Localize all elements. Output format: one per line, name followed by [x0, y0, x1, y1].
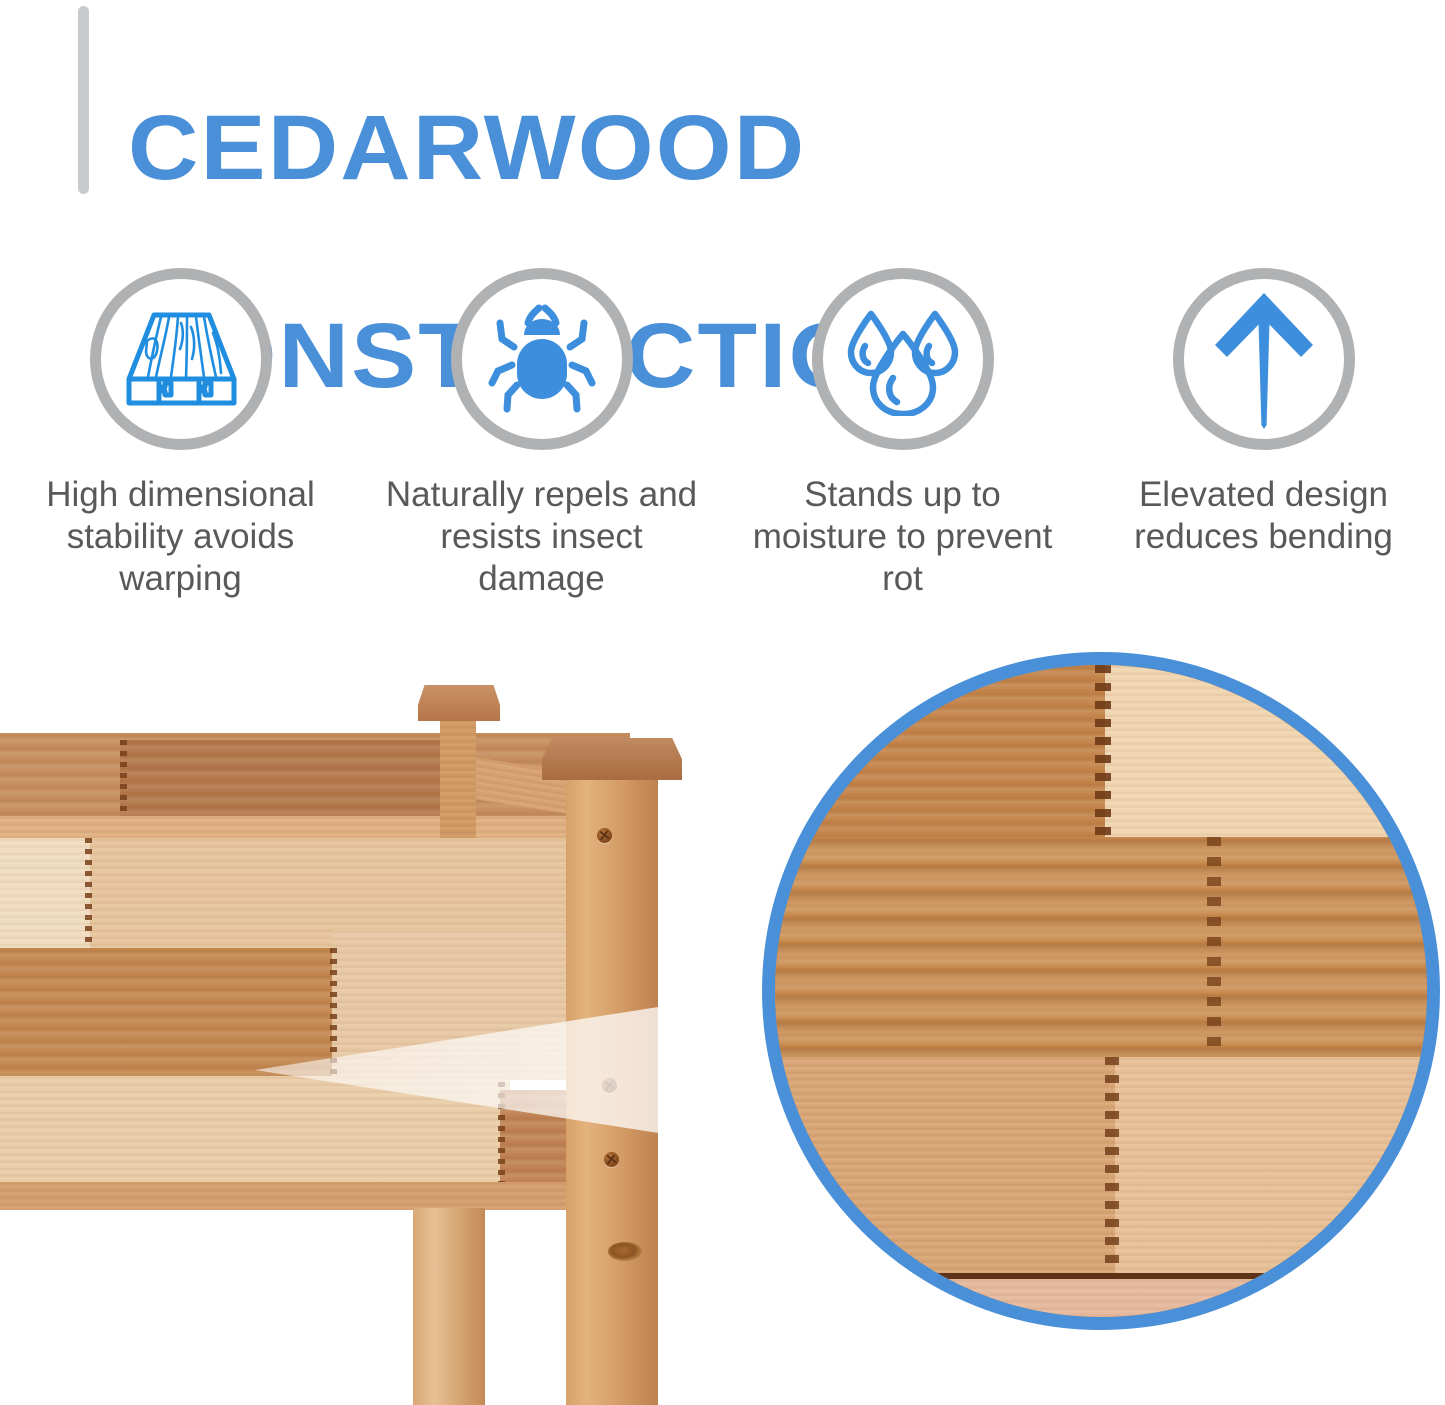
planter-rear-post: [440, 712, 476, 852]
product-photo: [0, 630, 1445, 1405]
feature-item-insect-resistance: Naturally repels and resists insect dama…: [361, 268, 722, 600]
page-title-line-1: CEDARWOOD: [128, 96, 1400, 200]
magnified-finger-joint-seam: [1095, 665, 1111, 837]
magnifier-inset: [762, 652, 1440, 1330]
planter-front-plank-upper-left: [0, 838, 90, 948]
feature-icon-badge: [90, 268, 272, 450]
planter-front-plank-lower: [0, 1076, 510, 1188]
planter-front-plank-mid: [0, 948, 335, 1076]
infographic-page: CEDARWOOD CONSTRUCTION: [0, 0, 1445, 1405]
planter-front-post-cap: [542, 738, 682, 780]
magnified-wood-grain: [775, 665, 1427, 1317]
planter-screw: [597, 828, 612, 843]
feature-caption: Naturally repels and resists insect dama…: [377, 474, 707, 600]
feature-icon-badge: [1173, 268, 1355, 450]
feature-item-elevated-design: Elevated design reduces bending: [1083, 268, 1444, 558]
planter-back-rail: [0, 816, 570, 840]
magnified-finger-joint-seam: [1105, 1057, 1119, 1275]
magnified-plank-top-right: [1105, 665, 1440, 837]
wood-planks-icon: [121, 307, 241, 411]
feature-icon-badge: [451, 268, 633, 450]
planter-screw: [604, 1152, 619, 1167]
planter-finger-joint-seam: [330, 948, 337, 1076]
header: CEDARWOOD CONSTRUCTION: [0, 0, 1445, 250]
magnified-plank-middle-shading: [775, 837, 1427, 1057]
header-accent-rule: [78, 6, 89, 194]
bug-icon: [484, 301, 600, 417]
magnified-finger-joint-seam: [1207, 837, 1221, 1057]
feature-item-moisture-resistance: Stands up to moisture to prevent rot: [722, 268, 1083, 600]
feature-caption: Stands up to moisture to prevent rot: [738, 474, 1068, 600]
feature-caption: High dimensional stability avoids warpin…: [16, 474, 346, 600]
feature-item-stability: High dimensional stability avoids warpin…: [0, 268, 361, 600]
up-arrow-icon: [1209, 289, 1319, 429]
water-droplets-icon: [843, 302, 963, 416]
planter-finger-joint-seam: [498, 1082, 505, 1188]
planter-base-rail: [0, 1182, 590, 1210]
planter-wood-knot: [608, 1242, 642, 1261]
magnified-plank-bottom-right: [1115, 1057, 1440, 1275]
planter-front-plank-mid-right: [332, 930, 580, 1080]
magnified-plank-bottom-sliver: [775, 1279, 1427, 1330]
planter-screw: [602, 1078, 617, 1093]
planter-rear-post-cap: [418, 685, 500, 721]
planter-rear-leg: [413, 1208, 485, 1405]
feature-icon-badge: [812, 268, 994, 450]
planter-finger-joint-seam: [120, 740, 127, 820]
feature-caption: Elevated design reduces bending: [1099, 474, 1429, 558]
planter-finger-joint-seam: [85, 838, 92, 948]
feature-list: High dimensional stability avoids warpin…: [0, 268, 1445, 618]
planter-back-top-plank-right: [120, 740, 440, 820]
